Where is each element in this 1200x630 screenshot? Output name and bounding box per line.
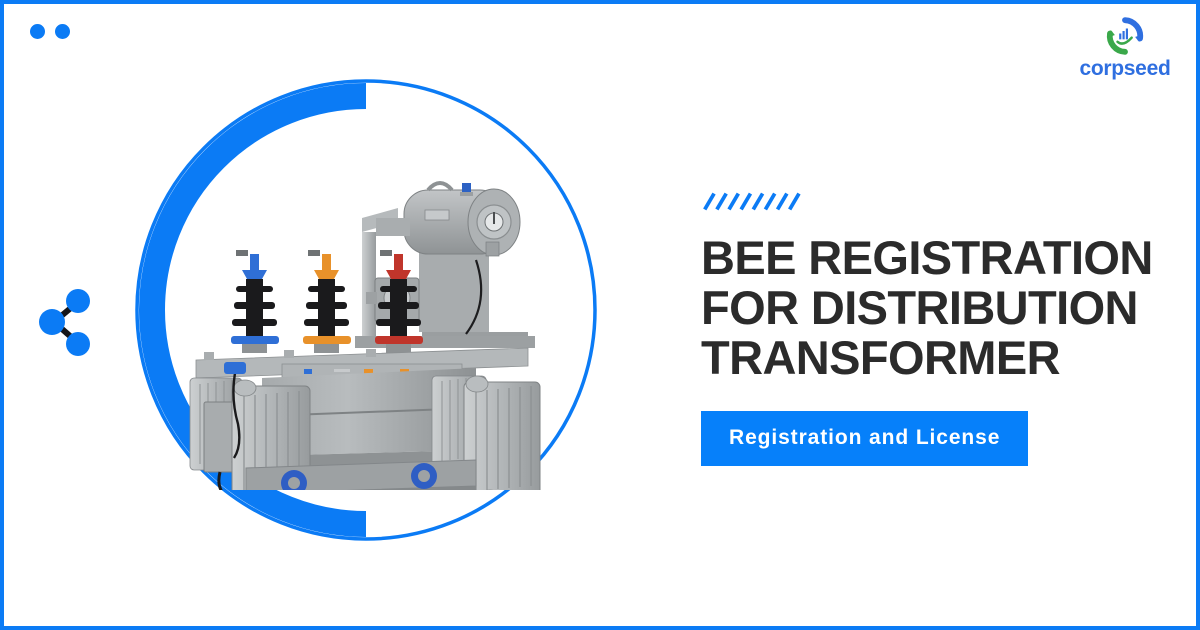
share-network-icon [32, 282, 96, 362]
dot-icon-2 [55, 24, 70, 39]
conservator-assembly [404, 183, 528, 343]
hv-bushings [231, 250, 423, 353]
decor-dots [30, 24, 70, 39]
slash-decoration-icon [701, 190, 813, 212]
hero-content: BEE REGISTRATION FOR DISTRIBUTION TRANSF… [701, 190, 1191, 466]
page-title: BEE REGISTRATION FOR DISTRIBUTION TRANSF… [701, 233, 1191, 383]
banner-root: corpseed [0, 0, 1200, 630]
brand-logo[interactable]: corpseed [1070, 16, 1180, 81]
dot-icon-1 [30, 24, 45, 39]
subtitle-badge[interactable]: Registration and License [701, 411, 1028, 466]
distribution-transformer-image [176, 150, 566, 490]
corpseed-logo-icon [1105, 16, 1145, 56]
hero-visual [116, 60, 616, 560]
brand-name: corpseed [1070, 57, 1180, 81]
